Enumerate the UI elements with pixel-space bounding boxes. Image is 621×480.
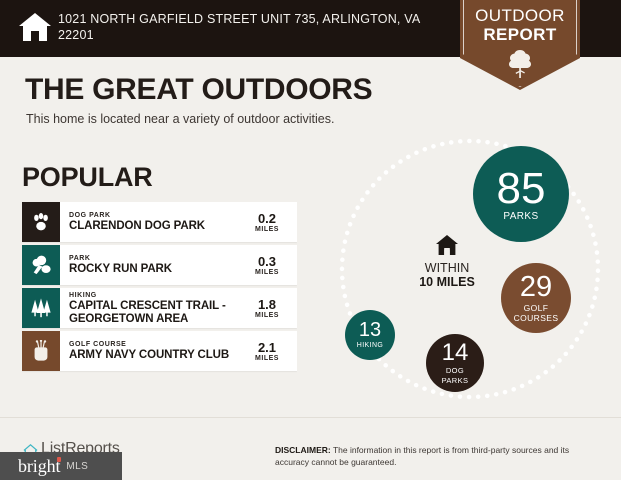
list-item-name: ARMY NAVY COUNTRY CLUB <box>69 349 241 362</box>
list-item-icon-tile <box>22 288 60 328</box>
bubble-golf-courses: 29 GOLF COURSES <box>501 263 571 333</box>
popular-heading: POPULAR <box>22 162 153 193</box>
distance-unit: MILES <box>255 312 279 319</box>
outdoor-report-page: 1021 NORTH GARFIELD STREET UNIT 735, ARL… <box>0 0 621 480</box>
house-icon <box>435 234 459 256</box>
tree-icon <box>507 49 533 79</box>
list-item[interactable]: DOG PARK CLARENDON DOG PARK 0.2 MILES <box>22 202 297 242</box>
list-item-distance: 0.2 MILES <box>241 202 297 242</box>
distance-unit: MILES <box>255 269 279 276</box>
list-item-distance: 1.8 MILES <box>241 288 297 328</box>
tree-bush-icon <box>29 254 53 276</box>
list-item-text: DOG PARK CLARENDON DOG PARK <box>60 202 241 242</box>
list-item-distance: 2.1 MILES <box>241 331 297 371</box>
page-header: 1021 NORTH GARFIELD STREET UNIT 735, ARL… <box>0 0 621 57</box>
bubble-hiking-value: 13 <box>359 320 381 340</box>
bubble-parks-value: 85 <box>497 167 546 211</box>
bubble-dog-parks: 14 DOG PARKS <box>426 334 484 392</box>
chart-center-label: WITHIN 10 MILES <box>392 234 502 289</box>
disclaimer: DISCLAIMER: The information in this repo… <box>275 445 605 468</box>
bright-mls-brand-text: bright <box>18 456 60 476</box>
distance-value: 0.2 <box>258 212 276 226</box>
bubble-dogparks-label-2: PARKS <box>442 376 469 386</box>
list-item-text: HIKING CAPITAL CRESCENT TRAIL - GEORGETO… <box>60 288 241 328</box>
badge-line-1: OUTDOOR <box>475 6 565 25</box>
bright-mls-badge: bright MLS <box>0 452 122 480</box>
list-item-category: HIKING <box>69 291 241 300</box>
list-item-icon-tile <box>22 331 60 371</box>
list-item-name: ROCKY RUN PARK <box>69 263 241 276</box>
list-item[interactable]: GOLF COURSE ARMY NAVY COUNTRY CLUB 2.1 M… <box>22 331 297 371</box>
list-item-name: CLARENDON DOG PARK <box>69 220 241 233</box>
distance-value: 0.3 <box>258 255 276 269</box>
badge-title: OUTDOOR REPORT <box>460 6 580 44</box>
list-item-name: CAPITAL CRESCENT TRAIL - GEORGETOWN AREA <box>69 300 241 325</box>
disclaimer-label: DISCLAIMER: <box>275 445 331 455</box>
bubble-golf-label-2: COURSES <box>514 313 559 323</box>
pine-trees-icon <box>29 297 53 319</box>
bubble-parks: 85 PARKS <box>473 146 569 242</box>
distance-unit: MILES <box>255 226 279 233</box>
bubble-dogparks-label-1: DOG <box>446 366 464 376</box>
list-item-category: DOG PARK <box>69 211 241 220</box>
center-line-1: WITHIN <box>392 261 502 275</box>
center-line-2: 10 MILES <box>392 275 502 289</box>
list-item-text: PARK ROCKY RUN PARK <box>60 245 241 285</box>
bubble-dogparks-value: 14 <box>442 341 469 365</box>
bright-mls-brand: bright <box>18 456 60 477</box>
list-item-icon-tile <box>22 245 60 285</box>
page-subtitle: This home is located near a variety of o… <box>26 112 334 126</box>
list-item-distance: 0.3 MILES <box>241 245 297 285</box>
property-address: 1021 NORTH GARFIELD STREET UNIT 735, ARL… <box>58 11 438 43</box>
golf-bag-icon <box>31 340 51 362</box>
bubble-parks-label: PARKS <box>503 212 538 222</box>
distance-value: 1.8 <box>258 298 276 312</box>
popular-list: DOG PARK CLARENDON DOG PARK 0.2 MILES PA… <box>22 202 297 376</box>
bright-mls-accent-dot <box>57 457 61 462</box>
within-10-miles-chart: 85 PARKS 29 GOLF COURSES 14 DOG PARKS 13… <box>320 138 621 420</box>
page-title: THE GREAT OUTDOORS <box>25 73 372 107</box>
badge-line-2: REPORT <box>483 25 556 44</box>
house-icon <box>18 11 52 43</box>
bubble-golf-label-1: GOLF <box>524 303 549 313</box>
paw-print-icon <box>30 211 52 233</box>
bubble-golf-value: 29 <box>520 273 552 302</box>
bubble-hiking: 13 HIKING <box>345 310 395 360</box>
distance-value: 2.1 <box>258 341 276 355</box>
list-item[interactable]: PARK ROCKY RUN PARK 0.3 MILES <box>22 245 297 285</box>
list-item-text: GOLF COURSE ARMY NAVY COUNTRY CLUB <box>60 331 241 371</box>
list-item-category: PARK <box>69 254 241 263</box>
bubble-hiking-label: HIKING <box>357 341 384 351</box>
distance-unit: MILES <box>255 355 279 362</box>
bright-mls-suffix: MLS <box>66 461 88 472</box>
list-item-category: GOLF COURSE <box>69 340 241 349</box>
list-item[interactable]: HIKING CAPITAL CRESCENT TRAIL - GEORGETO… <box>22 288 297 328</box>
footer-divider <box>0 417 621 418</box>
list-item-icon-tile <box>22 202 60 242</box>
outdoor-report-badge: OUTDOOR REPORT <box>460 0 580 90</box>
